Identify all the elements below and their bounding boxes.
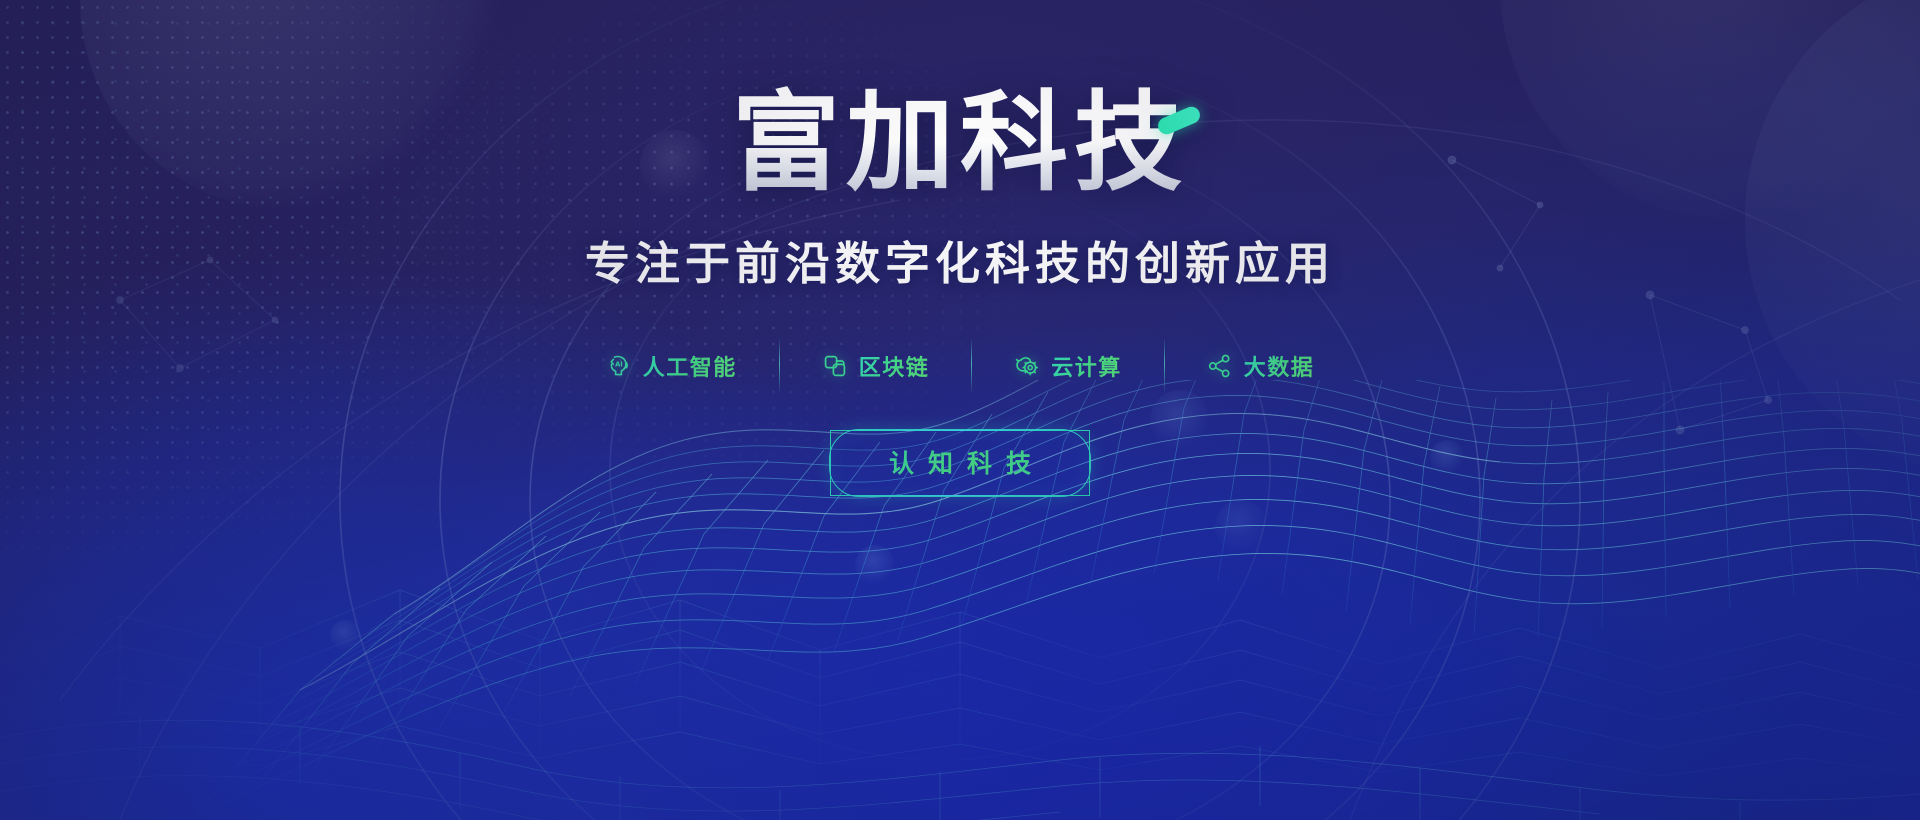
hero-content: 富加科技 专注于前沿数字化科技的创新应用 AI 人工智能: [0, 0, 1920, 820]
cta-button[interactable]: 认知科技: [830, 430, 1090, 496]
ai-head-icon: AI: [606, 353, 632, 379]
feature-tag-label: 大数据: [1244, 350, 1315, 382]
feature-tag-ai[interactable]: AI 人工智能: [564, 350, 779, 382]
feature-tag-label: 区块链: [859, 350, 930, 382]
hero-banner: 富加科技 专注于前沿数字化科技的创新应用 AI 人工智能: [0, 0, 1920, 820]
brand-logo-text: 富加科技: [732, 81, 1188, 206]
feature-tag-list: AI 人工智能 区块链: [564, 338, 1357, 394]
share-nodes-icon: [1207, 353, 1233, 379]
brand-logo: 富加科技: [732, 84, 1188, 205]
feature-tag-label: 云计算: [1051, 350, 1122, 382]
feature-tag-cloud[interactable]: 云计算: [972, 350, 1164, 382]
feature-tag-label: 人工智能: [643, 350, 737, 382]
hero-subtitle: 专注于前沿数字化科技的创新应用: [585, 227, 1335, 292]
feature-tag-bigdata[interactable]: 大数据: [1165, 350, 1357, 382]
blockchain-blocks-icon: [822, 353, 848, 379]
svg-text:AI: AI: [615, 360, 623, 368]
feature-tag-blockchain[interactable]: 区块链: [780, 350, 972, 382]
cloud-gear-icon: [1014, 353, 1040, 379]
cta-button-label: 认知科技: [875, 444, 1045, 480]
